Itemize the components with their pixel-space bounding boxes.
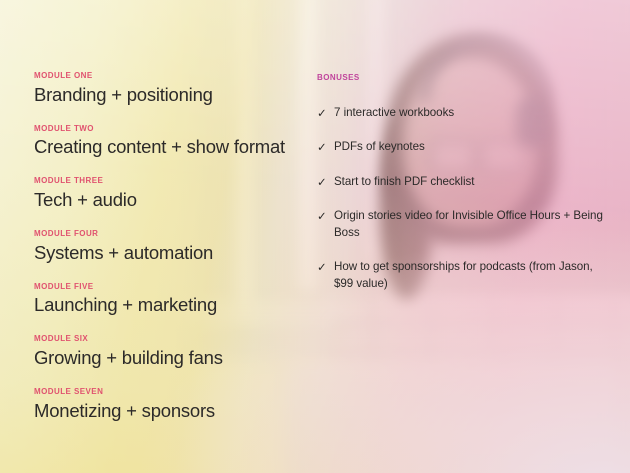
module-eyebrow: MODULE TWO [34, 125, 296, 134]
module-title: Branding + positioning [34, 84, 296, 106]
check-icon: ✓ [317, 174, 334, 190]
course-curriculum-slide: MODULE ONE Branding + positioning MODULE… [0, 0, 630, 473]
module-title: Creating content + show format [34, 136, 296, 158]
module-title: Tech + audio [34, 189, 296, 211]
bonus-item: ✓ Start to finish PDF checklist [317, 174, 607, 190]
module-item: MODULE FIVE Launching + marketing [34, 283, 296, 317]
module-item: MODULE SEVEN Monetizing + sponsors [34, 388, 296, 422]
module-item: MODULE SIX Growing + building fans [34, 335, 296, 369]
module-eyebrow: MODULE FOUR [34, 230, 296, 239]
bonus-label: 7 interactive workbooks [334, 105, 454, 121]
check-icon: ✓ [317, 259, 334, 275]
check-icon: ✓ [317, 208, 334, 224]
module-item: MODULE THREE Tech + audio [34, 177, 296, 211]
module-eyebrow: MODULE ONE [34, 72, 296, 81]
module-item: MODULE ONE Branding + positioning [34, 72, 296, 106]
module-title: Growing + building fans [34, 347, 296, 369]
bonus-item: ✓ How to get sponsorships for podcasts (… [317, 259, 607, 292]
module-eyebrow: MODULE SEVEN [34, 388, 296, 397]
bonus-label: PDFs of keynotes [334, 139, 425, 155]
module-eyebrow: MODULE FIVE [34, 283, 296, 292]
bonus-label: How to get sponsorships for podcasts (fr… [334, 259, 607, 292]
module-eyebrow: MODULE THREE [34, 177, 296, 186]
modules-column: MODULE ONE Branding + positioning MODULE… [34, 72, 296, 421]
module-title: Monetizing + sponsors [34, 400, 296, 422]
bonus-label: Start to finish PDF checklist [334, 174, 474, 190]
check-icon: ✓ [317, 139, 334, 155]
check-icon: ✓ [317, 105, 334, 121]
module-item: MODULE FOUR Systems + automation [34, 230, 296, 264]
module-title: Systems + automation [34, 242, 296, 264]
bonus-item: ✓ PDFs of keynotes [317, 139, 607, 155]
module-eyebrow: MODULE SIX [34, 335, 296, 344]
bonuses-list: ✓ 7 interactive workbooks ✓ PDFs of keyn… [317, 105, 607, 292]
module-item: MODULE TWO Creating content + show forma… [34, 125, 296, 159]
bonus-item: ✓ 7 interactive workbooks [317, 105, 607, 121]
bonus-label: Origin stories video for Invisible Offic… [334, 208, 607, 241]
module-title: Launching + marketing [34, 294, 296, 316]
bonuses-column: BONUSES ✓ 7 interactive workbooks ✓ PDFs… [317, 74, 607, 292]
bonuses-heading: BONUSES [317, 74, 607, 83]
bonus-item: ✓ Origin stories video for Invisible Off… [317, 208, 607, 241]
